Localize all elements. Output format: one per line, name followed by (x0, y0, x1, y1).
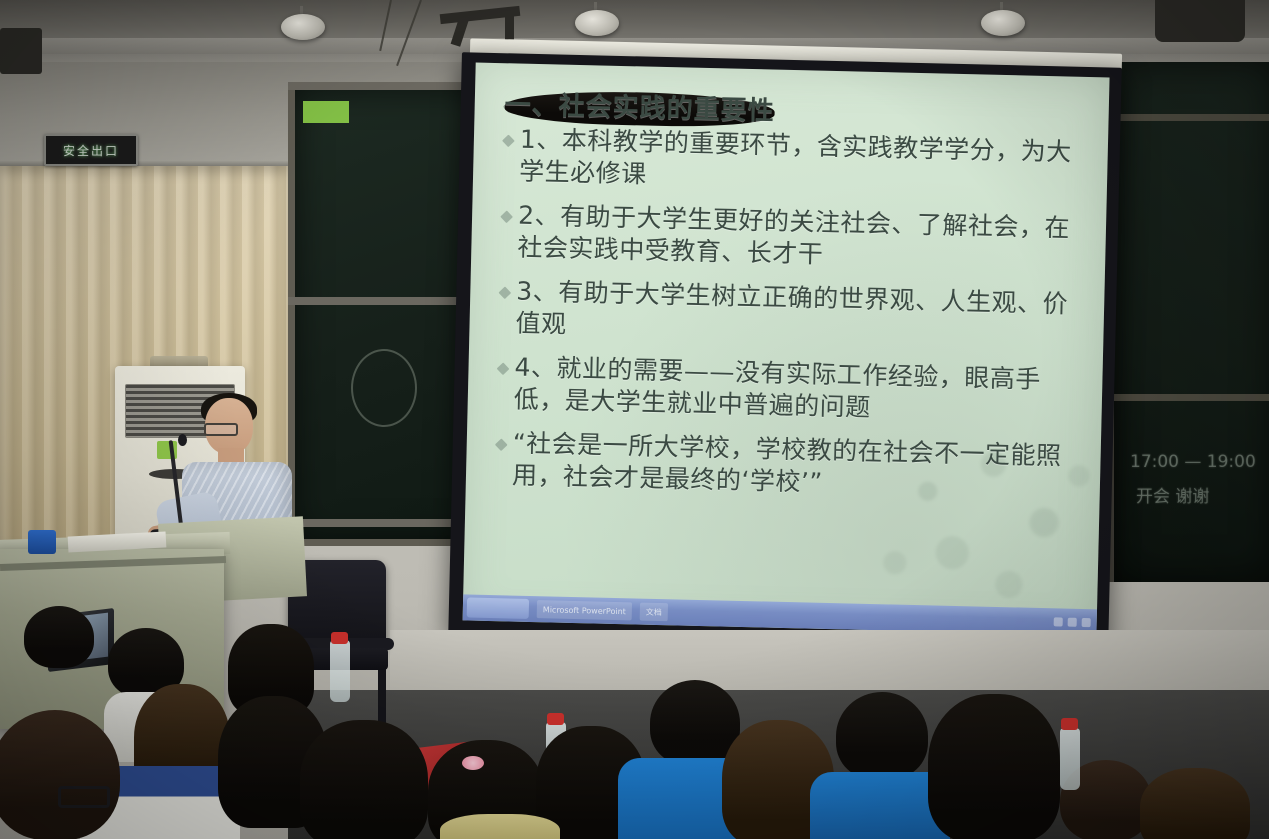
student-head-foreground (928, 694, 1060, 839)
screen-frame: 一、社会实践的重要性 1、本科教学的重要环节，含实践教学学分，为大学生必修课 2… (448, 52, 1122, 649)
blackboard-rail-top (288, 82, 483, 90)
ceiling-bracket (505, 14, 514, 42)
water-bottle (1060, 728, 1080, 790)
ceiling-light-icon (981, 10, 1025, 36)
glasses-icon (58, 786, 110, 808)
blackboard-right: 17:00 — 19:00 开会 谢谢 (1108, 62, 1269, 582)
exit-sign-label: 安全出口 (63, 142, 119, 159)
diamond-bullet-icon (500, 210, 513, 223)
slide-bullet-1-text: 1、本科教学的重要环节，含实践教学学分，为大学生必修课 (519, 124, 1086, 201)
student-head-foreground (0, 710, 120, 839)
student-head-long-hair (1140, 768, 1250, 839)
student-head (836, 692, 928, 780)
microphone-head-icon (178, 434, 187, 446)
chalk-line-time: 17:00 — 19:00 (1130, 452, 1256, 472)
student-head (24, 606, 94, 668)
blue-object-on-lectern (28, 530, 56, 554)
sticky-note (303, 101, 349, 123)
blackboard-rail-mid (1114, 394, 1269, 401)
slide-bullet-heading: 一、社会实践的重要性 (505, 89, 1087, 125)
slide-bullet-quote: “社会是一所大学校，学校教的在社会不一定能照用，社会才是最终的‘学校’” (496, 427, 1079, 505)
bottle-cap (1061, 718, 1078, 730)
slide-bullet-3: 3、有助于大学生树立正确的世界观、人生观、价值观 (499, 275, 1082, 353)
diamond-bullet-icon (498, 286, 511, 299)
diamond-bullet-icon (495, 438, 508, 451)
projection-screen: 一、社会实践的重要性 1、本科教学的重要环节，含实践教学学分，为大学生必修课 2… (448, 44, 1130, 660)
slide-quote-text: “社会是一所大学校，学校教的在社会不一定能照用，社会才是最终的‘学校’” (512, 428, 1079, 505)
glasses-icon (204, 423, 238, 436)
slide-bullet-2-text: 2、有助于大学生更好的关注社会、了解社会，在社会实践中受教育、长才干 (517, 200, 1084, 277)
slide-surface: 一、社会实践的重要性 1、本科教学的重要环节，含实践教学学分，为大学生必修课 2… (463, 63, 1110, 636)
audience-area (0, 600, 1269, 839)
student-head-foreground (300, 720, 428, 839)
ceiling-box (1155, 0, 1245, 42)
diamond-bullet-icon (502, 134, 515, 147)
slide-content: 一、社会实践的重要性 1、本科教学的重要环节，含实践教学学分，为大学生必修课 2… (466, 63, 1110, 506)
diamond-bullet-icon (497, 362, 510, 375)
hair-bow-icon (462, 756, 484, 770)
exit-sign: 安全出口 (44, 134, 138, 166)
chalk-line-note: 开会 谢谢 (1136, 482, 1209, 507)
slide-bullet-2: 2、有助于大学生更好的关注社会、了解社会，在社会实践中受教育、长才干 (501, 199, 1084, 277)
lecture-hall-photo: 安全出口 17:00 — 19:00 开会 谢谢 (0, 0, 1269, 839)
wall-speaker-icon (0, 28, 42, 74)
bottle-cap (547, 713, 564, 725)
slide-bullet-4: 4、就业的需要——没有实际工作经验，眼高手低，是大学生就业中普遍的问题 (497, 351, 1080, 429)
slide-bullet-1: 1、本科教学的重要环节，含实践教学学分，为大学生必修课 (503, 123, 1086, 201)
chalk-circle-mark (351, 349, 417, 427)
water-bottle (330, 640, 350, 702)
ceiling-light-icon (281, 14, 325, 40)
slide-heading-text: 一、社会实践的重要性 (504, 89, 775, 129)
ceiling-light-icon (575, 10, 619, 36)
slide-bullet-3-text: 3、有助于大学生树立正确的世界观、人生观、价值观 (515, 276, 1082, 353)
blackboard-rail-mid (288, 297, 483, 305)
bottle-cap (331, 632, 348, 644)
bag-or-item (440, 814, 560, 839)
slide-bullet-4-text: 4、就业的需要——没有实际工作经验，眼高手低，是大学生就业中普遍的问题 (513, 352, 1080, 429)
blackboard-rail-top (1114, 114, 1269, 121)
